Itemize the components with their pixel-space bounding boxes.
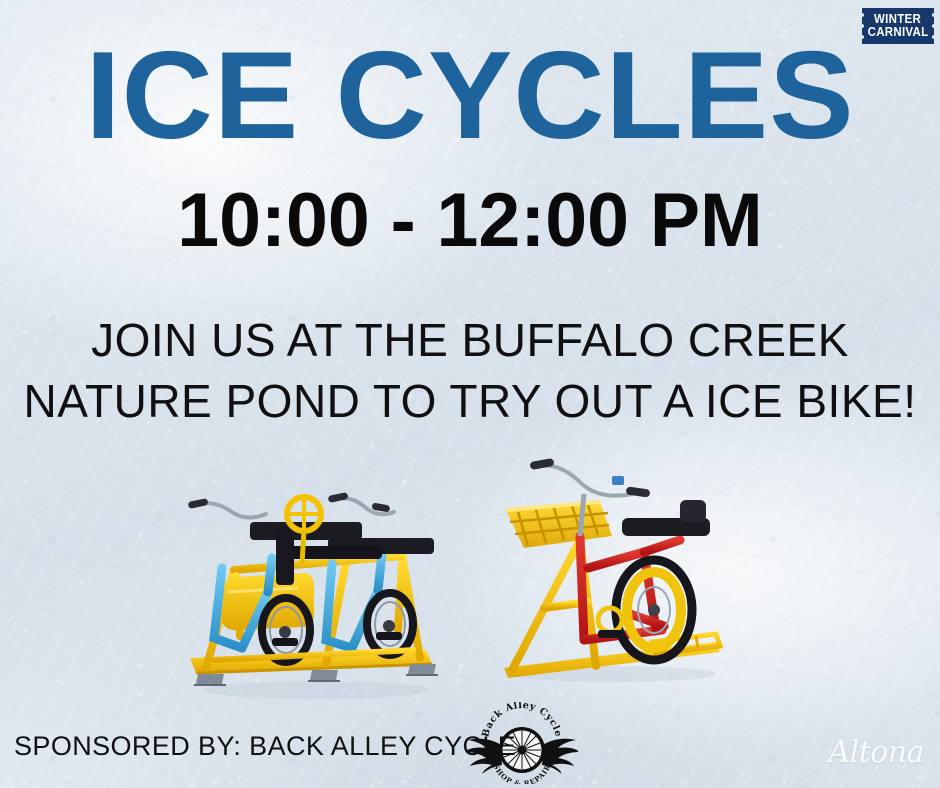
- altona-watermark: Altona: [828, 735, 924, 770]
- description-line-2: NATURE POND TO TRY OUT A ICE BIKE!: [0, 371, 940, 432]
- logo-year-text: 1997: [548, 750, 563, 756]
- event-time: 10:00 - 12:00 PM: [5, 183, 936, 259]
- page-title: ICE CYCLES: [0, 34, 940, 158]
- ice-bike-single-image: [484, 444, 732, 684]
- sponsor-text: SPONSORED BY: BACK ALLEY CYCLE: [14, 731, 516, 762]
- description-line-1: JOIN US AT THE BUFFALO CREEK: [0, 310, 940, 371]
- event-description: JOIN US AT THE BUFFALO CREEK NATURE POND…: [0, 310, 940, 432]
- ice-bike-tandem-image: [176, 452, 444, 700]
- poster-canvas: WINTER CARNIVAL ICE CYCLES 10:00 - 12:00…: [0, 0, 940, 788]
